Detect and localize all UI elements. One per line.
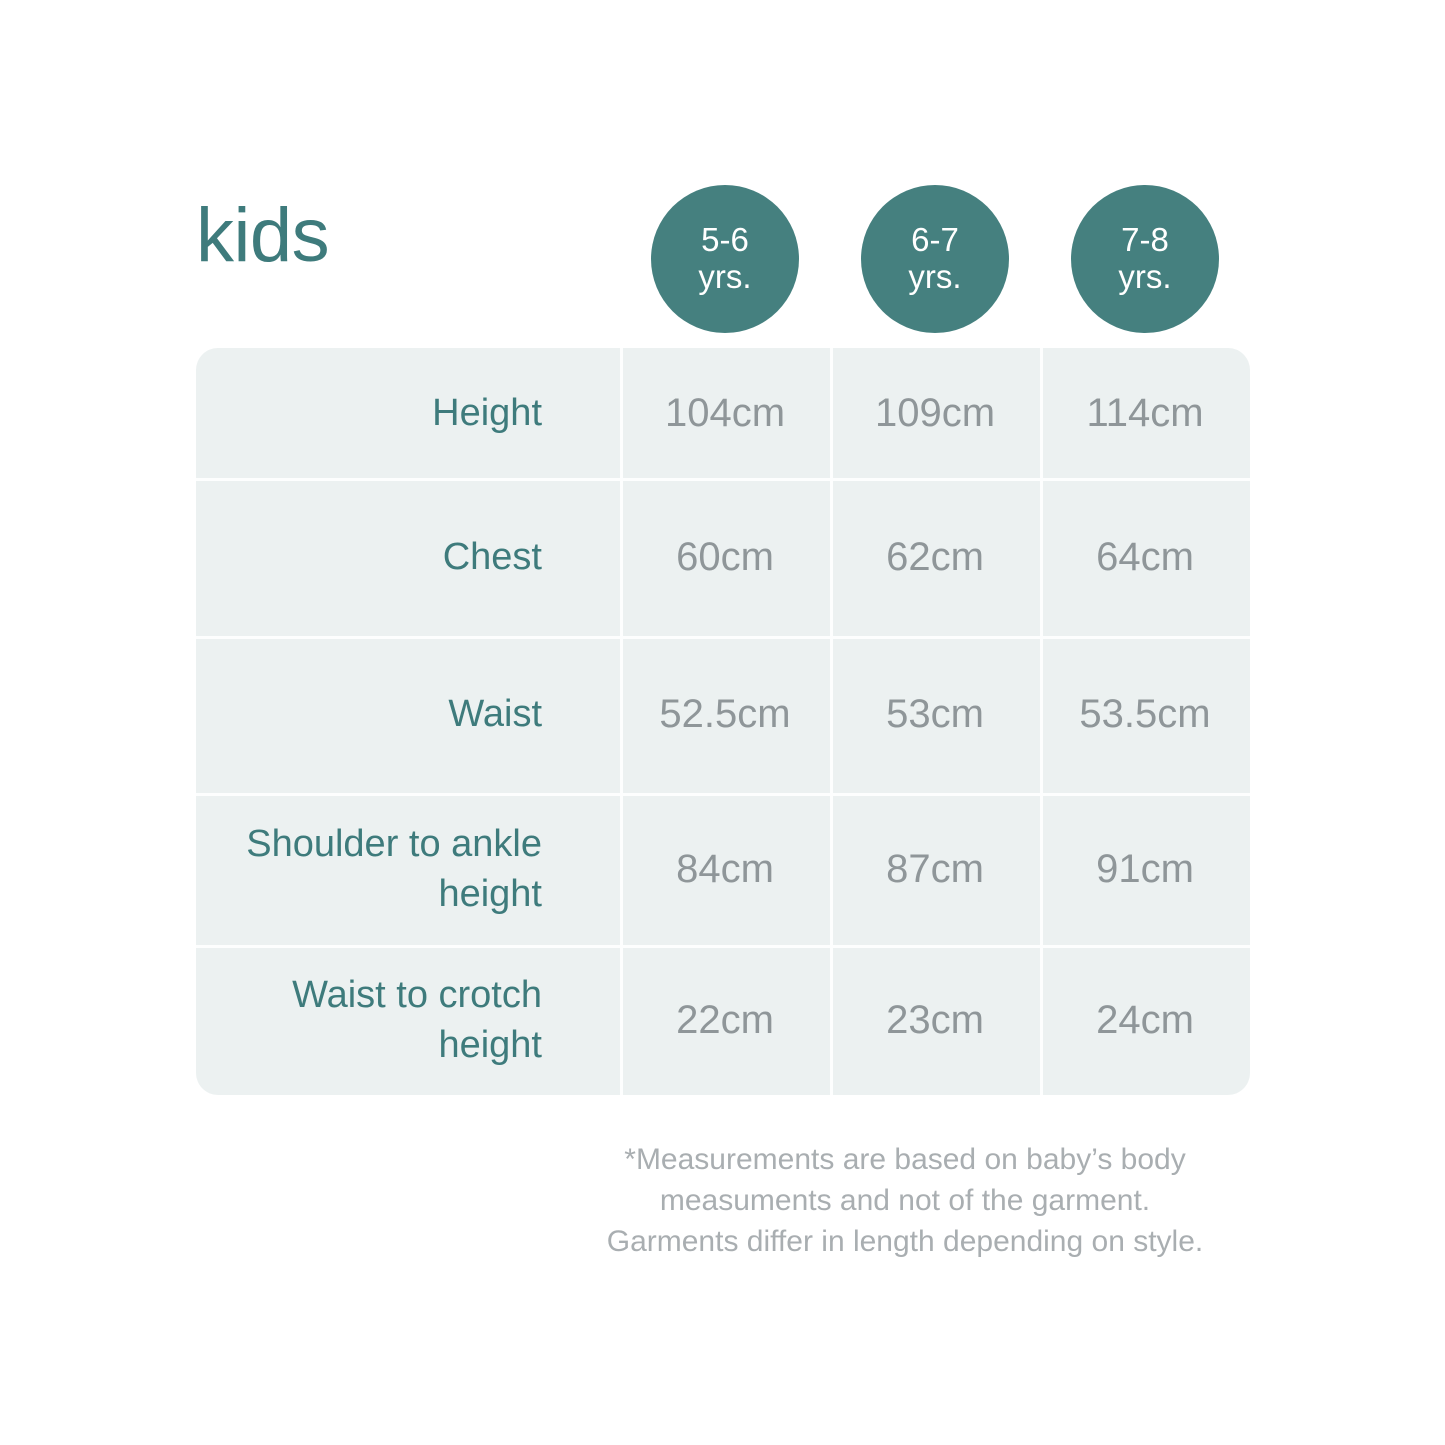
cell-waist-6-7: 53cm <box>830 636 1040 793</box>
row-label-text: Waist <box>448 689 542 739</box>
table-row: Shoulder to ankle height 84cm 87cm 91cm <box>196 793 1250 945</box>
age-range-label: 5-6 <box>701 222 749 259</box>
row-label-text: Shoulder to ankle height <box>246 819 542 919</box>
age-range-label: 7-8 <box>1121 222 1169 259</box>
row-label-line: height <box>292 1020 542 1070</box>
age-unit-label: yrs. <box>1118 259 1171 296</box>
footnote-line-3: Garments differ in length depending on s… <box>560 1222 1250 1263</box>
age-range-label: 6-7 <box>911 222 959 259</box>
age-circle-7-8: 7-8 yrs. <box>1040 184 1250 334</box>
table-row: Waist to crotch height 22cm 23cm 24cm <box>196 945 1250 1095</box>
row-label-text: Waist to crotch height <box>292 970 542 1070</box>
cell-waist-to-crotch-6-7: 23cm <box>830 945 1040 1095</box>
row-label-height: Height <box>196 348 620 478</box>
footnote-line-1: *Measurements are based on baby’s body <box>560 1140 1250 1181</box>
row-label-line: height <box>246 869 542 919</box>
cell-chest-5-6: 60cm <box>620 478 830 636</box>
age-badge: 5-6 yrs. <box>651 185 799 333</box>
age-unit-label: yrs. <box>698 259 751 296</box>
size-chart-page: kids 5-6 yrs. 6-7 yrs. 7-8 yrs. Height <box>0 0 1445 1445</box>
page-title: kids <box>196 198 329 274</box>
row-label-line: Waist to crotch <box>292 970 542 1020</box>
row-label-line: Shoulder to ankle <box>246 819 542 869</box>
table-row: Chest 60cm 62cm 64cm <box>196 478 1250 636</box>
table-row: Waist 52.5cm 53cm 53.5cm <box>196 636 1250 793</box>
cell-height-5-6: 104cm <box>620 348 830 478</box>
cell-waist-to-crotch-7-8: 24cm <box>1040 945 1250 1095</box>
row-label-chest: Chest <box>196 478 620 636</box>
cell-waist-7-8: 53.5cm <box>1040 636 1250 793</box>
cell-waist-to-crotch-5-6: 22cm <box>620 945 830 1095</box>
row-label-text: Height <box>432 388 542 438</box>
cell-height-6-7: 109cm <box>830 348 1040 478</box>
size-measurement-table: Height 104cm 109cm 114cm Chest 60cm 62cm… <box>196 348 1250 1095</box>
cell-shoulder-to-ankle-5-6: 84cm <box>620 793 830 945</box>
row-label-text: Chest <box>443 532 542 582</box>
cell-shoulder-to-ankle-6-7: 87cm <box>830 793 1040 945</box>
age-circle-5-6: 5-6 yrs. <box>620 184 830 334</box>
cell-chest-6-7: 62cm <box>830 478 1040 636</box>
age-badge: 6-7 yrs. <box>861 185 1009 333</box>
age-unit-label: yrs. <box>908 259 961 296</box>
row-label-waist-to-crotch-height: Waist to crotch height <box>196 945 620 1095</box>
age-badge: 7-8 yrs. <box>1071 185 1219 333</box>
cell-shoulder-to-ankle-7-8: 91cm <box>1040 793 1250 945</box>
cell-chest-7-8: 64cm <box>1040 478 1250 636</box>
cell-height-7-8: 114cm <box>1040 348 1250 478</box>
cell-waist-5-6: 52.5cm <box>620 636 830 793</box>
age-circle-6-7: 6-7 yrs. <box>830 184 1040 334</box>
age-circle-row: 5-6 yrs. 6-7 yrs. 7-8 yrs. <box>620 184 1250 334</box>
row-label-shoulder-to-ankle-height: Shoulder to ankle height <box>196 793 620 945</box>
footnote-line-2: measuments and not of the garment. <box>560 1181 1250 1222</box>
table-row: Height 104cm 109cm 114cm <box>196 348 1250 478</box>
footnote: *Measurements are based on baby’s body m… <box>560 1140 1250 1262</box>
row-label-waist: Waist <box>196 636 620 793</box>
